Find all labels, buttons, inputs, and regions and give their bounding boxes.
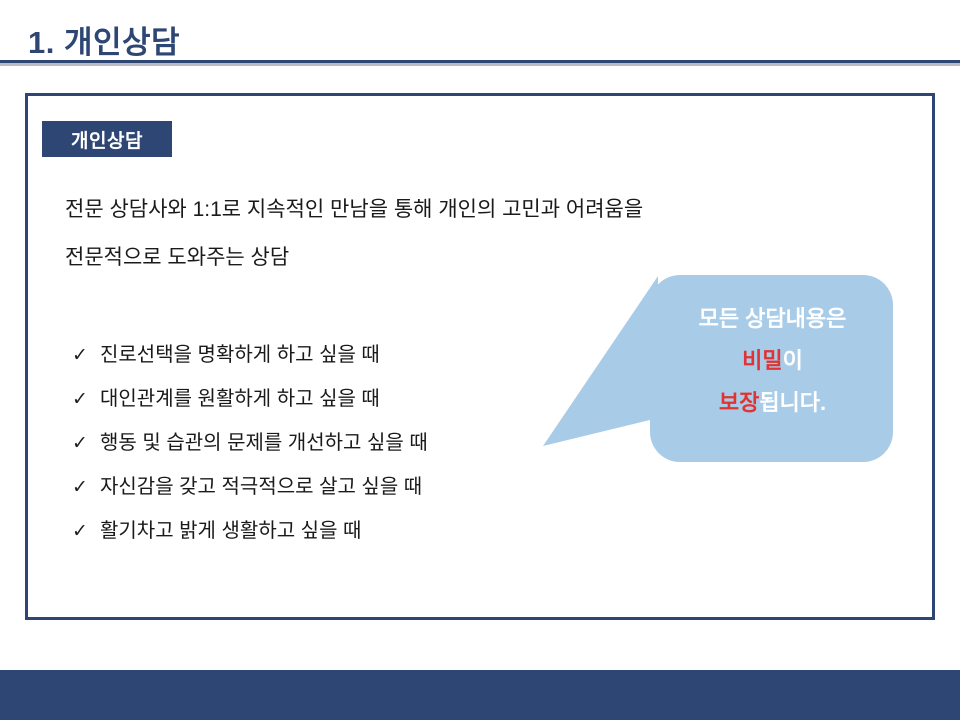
list-item: ✓ 진로선택을 명확하게 하고 싶을 때 <box>72 345 592 389</box>
check-icon: ✓ <box>72 390 100 409</box>
section-badge-label: 개인상담 <box>71 126 143 153</box>
title-divider-shadow <box>0 63 960 66</box>
title-divider <box>0 60 960 64</box>
check-icon: ✓ <box>72 434 100 453</box>
list-item-label: 활기차고 밝게 생활하고 싶을 때 <box>100 521 361 541</box>
list-item-label: 대인관계를 원활하게 하고 싶을 때 <box>100 389 380 409</box>
list-item: ✓ 행동 및 습관의 문제를 개선하고 싶을 때 <box>72 433 592 477</box>
list-item-label: 행동 및 습관의 문제를 개선하고 싶을 때 <box>100 433 428 453</box>
page-title: 1. 개인상담 <box>28 17 180 62</box>
check-icon: ✓ <box>72 522 100 541</box>
list-item-label: 진로선택을 명확하게 하고 싶을 때 <box>100 345 380 365</box>
description-line-2: 전문적으로 도와주는 상담 <box>65 234 825 282</box>
check-icon: ✓ <box>72 478 100 497</box>
list-item: ✓ 대인관계를 원활하게 하고 싶을 때 <box>72 389 592 433</box>
check-icon: ✓ <box>72 346 100 365</box>
list-item: ✓ 활기차고 밝게 생활하고 싶을 때 <box>72 521 592 565</box>
description-paragraph: 전문 상담사와 1:1로 지속적인 만남을 통해 개인의 고민과 어려움을 전문… <box>65 186 825 282</box>
list-item-label: 자신감을 갖고 적극적으로 살고 싶을 때 <box>100 477 422 497</box>
checklist: ✓ 진로선택을 명확하게 하고 싶을 때 ✓ 대인관계를 원활하게 하고 싶을 … <box>72 345 592 565</box>
section-badge: 개인상담 <box>42 121 172 157</box>
description-line-1: 전문 상담사와 1:1로 지속적인 만남을 통해 개인의 고민과 어려움을 <box>65 186 825 234</box>
footer-bar <box>0 670 960 720</box>
list-item: ✓ 자신감을 갖고 적극적으로 살고 싶을 때 <box>72 477 592 521</box>
